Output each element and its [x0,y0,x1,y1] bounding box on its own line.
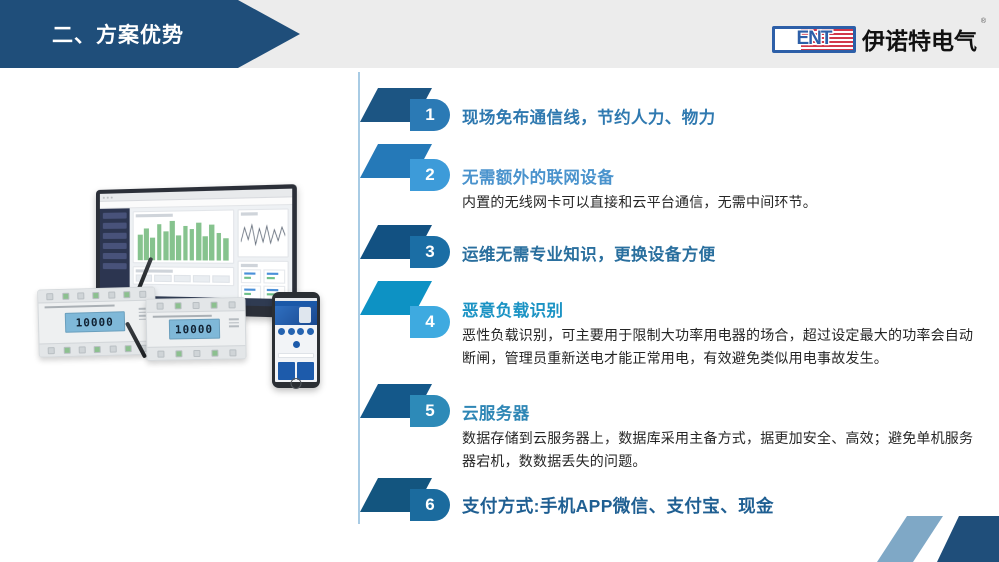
din-rail-meter-right: 10000 [145,297,246,361]
badge-5: 5 [410,395,450,427]
meter2-model-label [153,315,212,318]
advantage-body-4: 恶性负载识别，可主要用于限制大功率用电器的场合，超过设定最大的功率会自动断闸，管… [462,324,974,370]
meter2-terminals-bottom [147,345,245,360]
app-search-field [278,353,314,358]
product-photo: 10000 10000 [24,160,342,400]
advantage-body-5: 数据存储到云服务器上，数据库采用主备方式，据更加安全、高效；避免单机服务器宕机，… [462,427,974,473]
corner-decoration-dark [937,516,999,562]
meter2-indicator-leds [229,318,239,327]
badge-6: 6 [410,489,450,521]
advantage-heading-1: 现场免布通信线，节约人力、物力 [462,104,716,128]
app-icon-grid-2 [275,338,317,351]
company-logo: ENT ® 伊诺特电气 [772,22,977,56]
app-icon-grid [275,325,317,338]
phone-home-button [291,378,302,389]
meter-lcd-right: 10000 [168,319,219,340]
badge-1: 1 [410,99,450,131]
line-chart [240,217,285,254]
logo-ent-text: ENT [775,29,853,50]
logo-text-wrap: ® 伊诺特电气 [862,22,977,56]
meter-lcd-left: 10000 [64,311,125,333]
meter2-terminals-top [146,298,244,313]
slide-root: 二、方案优势 ENT ® 伊诺特电气 [0,0,999,562]
line-chart-card [237,208,289,257]
meter-terminals-top [38,287,154,303]
app-hero-banner [275,306,317,325]
phone-screen [275,298,317,382]
badge-2: 2 [410,159,450,191]
smartphone [272,292,320,388]
ent-logo-mark: ENT [772,26,856,53]
page-title: 二、方案优势 [52,19,184,49]
advantage-heading-6: 支付方式:手机APP微信、支付宝、现金 [462,493,774,518]
advantage-heading-2: 无需额外的联网设备 [462,164,614,188]
advantage-heading-5: 云服务器 [462,400,530,424]
registered-mark-icon: ® [981,18,986,25]
advantage-body-2: 内置的无线网卡可以直接和云平台通信，无需中间环节。 [462,191,962,214]
advantage-heading-4: 恶意负载识别 [462,297,563,321]
bar-chart-card [133,209,234,263]
meter-model-label [45,305,115,309]
dashboard-right-column [237,208,289,303]
logo-company-name: 伊诺特电气 [862,28,977,54]
bar-chart [136,218,231,261]
list-divider [358,72,360,524]
advantage-heading-3: 运维无需专业知识，更换设备方便 [462,241,716,265]
badge-4: 4 [410,306,450,338]
badge-3: 3 [410,236,450,268]
corner-decoration-light [877,516,943,562]
